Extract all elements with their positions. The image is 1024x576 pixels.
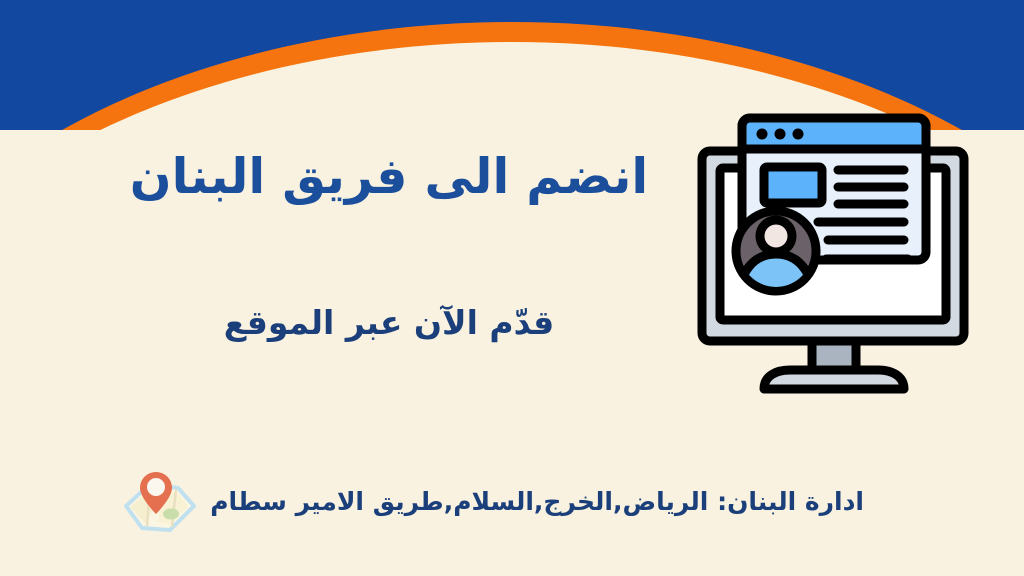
address-label: ادارة البنان: الرياض,الخرج,السلام,طريق ا… <box>210 487 864 517</box>
page-title: انضم الى فريق البنان <box>109 148 669 206</box>
online-application-monitor-icon <box>688 104 980 394</box>
map-location-icon <box>116 462 202 542</box>
recruitment-banner: انضم الى فريق البنان قدّم الآن عبر الموق… <box>0 0 1024 576</box>
address-row: ادارة البنان: الرياض,الخرج,السلام,طريق ا… <box>116 462 864 542</box>
subtitle: قدّم الآن عبر الموقع <box>154 303 624 343</box>
